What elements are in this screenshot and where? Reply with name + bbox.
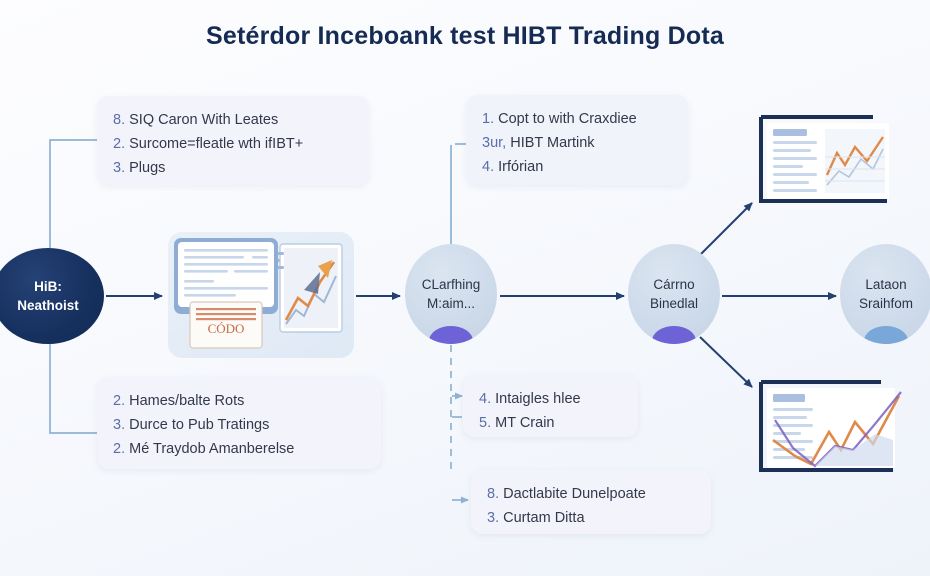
node-label-line2: Neathoist [17, 296, 79, 315]
list-item-text: SIQ Caron With Leates [129, 112, 278, 128]
list-item-text: Mé Traydob Amanberelse [129, 441, 294, 457]
list-item-number: 4. [479, 391, 491, 407]
node-label-line2: Binedlal [650, 294, 698, 313]
note-box-bottom-middle: 8. Dactlabite Dunelpoate 3. Curtam Ditta [471, 470, 711, 534]
list-item-text: Irfórian [498, 159, 543, 175]
note-box-bottom-left: 2. Hames/balte Rots 3. Durce to Pub Trat… [97, 377, 381, 469]
connector-carno-to-bottom-right-chart [700, 337, 752, 387]
node-label-line2: M:aim... [427, 294, 475, 313]
list-item: 2. Surcome=fleatle wth ifIBT+ [113, 132, 353, 156]
list-item-number: 2. [113, 136, 125, 152]
node-accent-arc [652, 326, 696, 344]
note-box-middle-right: 4. Intaigles hlee 5. MT Crain [463, 375, 638, 437]
node-label-line1: Cárrno [653, 275, 694, 294]
list-item-number: 8. [113, 112, 125, 128]
list-item: 3. Curtam Ditta [487, 506, 695, 530]
node-carrno-binedlal[interactable]: Cárrno Binedlal [628, 244, 720, 344]
list-item-text: Curtam Ditta [503, 510, 584, 526]
list-item: 3. Durce to Pub Tratings [113, 413, 365, 437]
list-item: 2. Mé Traydob Amanberelse [113, 437, 365, 461]
center-illustration-svg: CÓDO [168, 232, 354, 358]
note-box-top-middle: 1. Copt to with Craxdiee 3ur, HIBT Marti… [466, 95, 688, 185]
list-item-number: 3. [113, 417, 125, 433]
node-clarfhing-maim[interactable]: CLarfhing M:aim... [405, 244, 497, 344]
node-label-line2: Sraihfom [859, 294, 913, 313]
diagram-canvas: Setérdor Inceboank test HIBT Trading Dot… [0, 0, 930, 576]
codo-card-label: CÓDO [208, 321, 245, 336]
list-item-text: Copt to with Craxdiee [498, 111, 637, 127]
list-item-number: 3ur, [482, 135, 506, 151]
node-label-line1: Lataon [865, 275, 906, 294]
bottom-right-chart-svg [753, 378, 903, 476]
report-chart-window-illustration [753, 113, 895, 205]
list-item-number: 1. [482, 111, 494, 127]
list-item: 4. Intaigles hlee [479, 387, 622, 411]
list-item: 8. Dactlabite Dunelpoate [487, 482, 695, 506]
list-item-number: 5. [479, 415, 491, 431]
list-item-number: 8. [487, 486, 499, 502]
list-item-number: 2. [113, 441, 125, 457]
documents-and-chart-illustration: CÓDO [168, 232, 354, 358]
connector-carno-to-top-right-chart [700, 203, 752, 255]
list-item-text: Hames/balte Rots [129, 393, 244, 409]
connector-clarify-to-mid-right-note [451, 345, 462, 470]
list-item-text: HIBT Martink [510, 135, 594, 151]
list-item-text: MT Crain [495, 415, 554, 431]
list-item-text: Dactlabite Dunelpoate [503, 486, 646, 502]
list-item-number: 3. [113, 160, 125, 176]
list-item: 3. Plugs [113, 156, 353, 180]
list-item-text: Intaigles hlee [495, 391, 580, 407]
node-label-line1: HiB: [34, 277, 62, 296]
top-right-chart-svg [753, 113, 895, 205]
node-accent-arc [429, 326, 473, 344]
list-item: 8. SIQ Caron With Leates [113, 108, 353, 132]
node-lataon-sraihfom[interactable]: Lataon Sraihfom [840, 244, 930, 344]
node-label-line1: CLarfhing [422, 275, 481, 294]
note-box-top-left: 8. SIQ Caron With Leates 2. Surcome=flea… [97, 96, 369, 185]
list-item: 4. Irfórian [482, 155, 672, 179]
list-item: 5. MT Crain [479, 411, 622, 435]
list-item: 3ur, HIBT Martink [482, 131, 672, 155]
list-item-number: 2. [113, 393, 125, 409]
list-item: 1. Copt to with Craxdiee [482, 107, 672, 131]
list-item-text: Surcome=fleatle wth ifIBT+ [129, 136, 303, 152]
node-accent-arc [864, 326, 908, 344]
list-item: 2. Hames/balte Rots [113, 389, 365, 413]
list-item-text: Durce to Pub Tratings [129, 417, 269, 433]
list-item-number: 4. [482, 159, 494, 175]
list-item-text: Plugs [129, 160, 165, 176]
page-title: Setérdor Inceboank test HIBT Trading Dot… [0, 22, 930, 51]
trend-chart-window-illustration [753, 378, 903, 476]
list-item-number: 3. [487, 510, 499, 526]
